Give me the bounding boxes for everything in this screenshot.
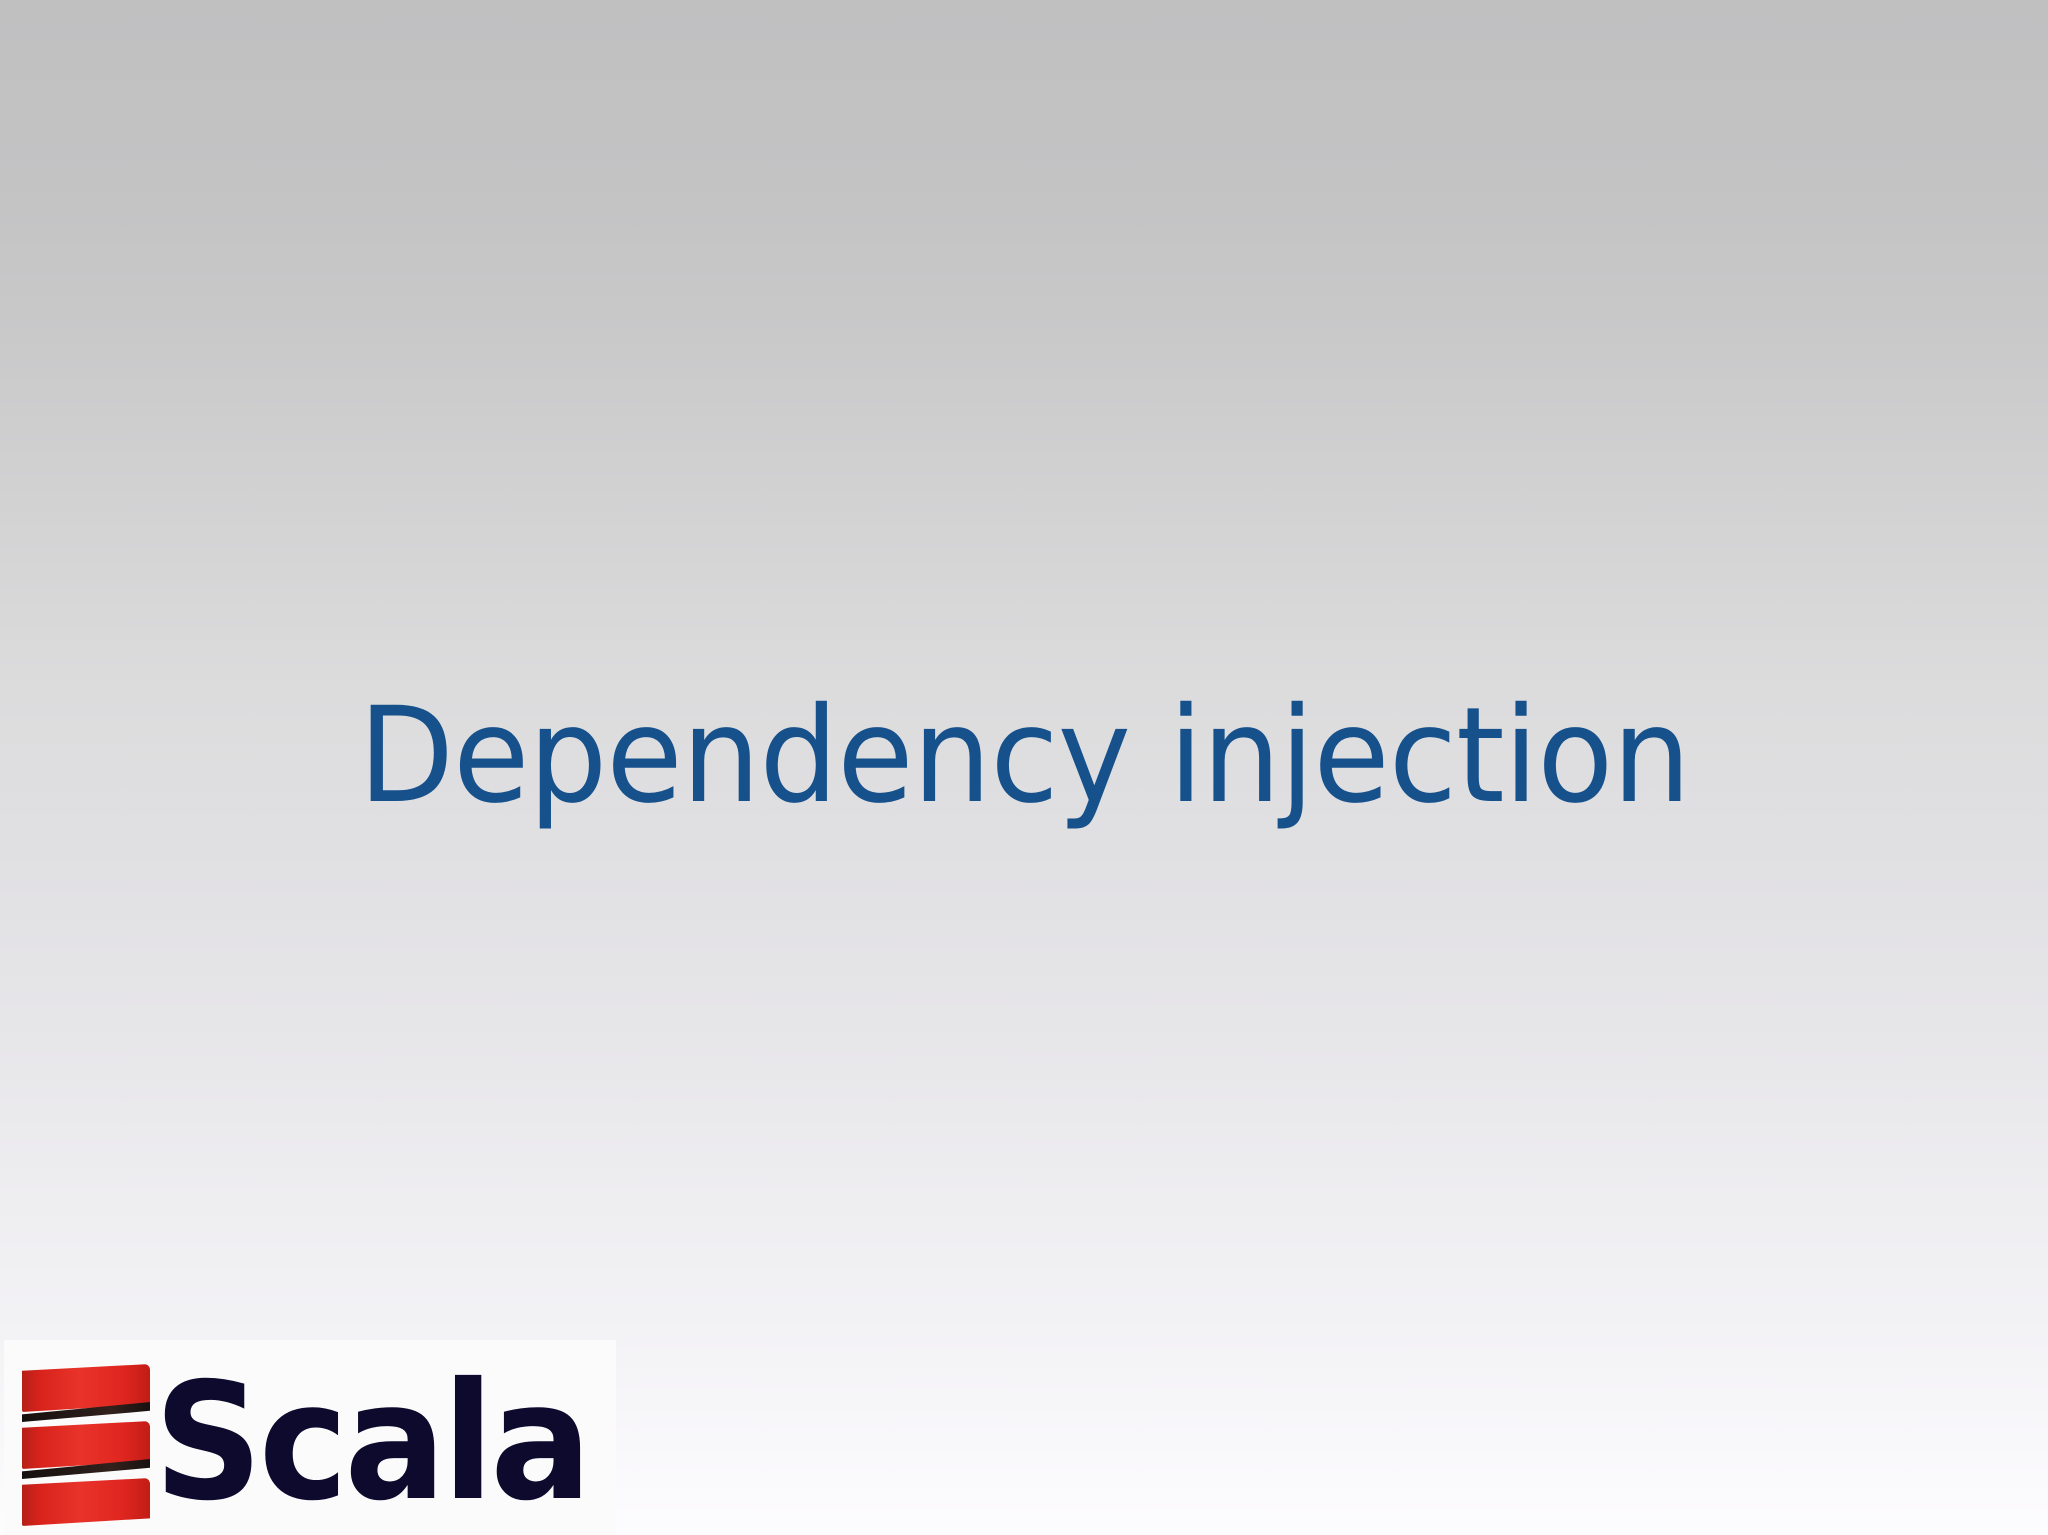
scala-ribbon-icon: [22, 1358, 150, 1530]
scala-ribbon-bottom: [22, 1472, 150, 1532]
scala-ribbon-middle: [22, 1415, 150, 1475]
scala-wordmark: Scala: [154, 1362, 588, 1524]
presentation-slide: Dependency injection Scala: [0, 0, 2048, 1535]
scala-ribbon-top: [22, 1358, 150, 1418]
title-block: Dependency injection: [0, 690, 2048, 822]
scala-logo: Scala: [4, 1340, 616, 1535]
ribbon-bar: [22, 1478, 150, 1526]
page-title: Dependency injection: [358, 690, 1689, 822]
